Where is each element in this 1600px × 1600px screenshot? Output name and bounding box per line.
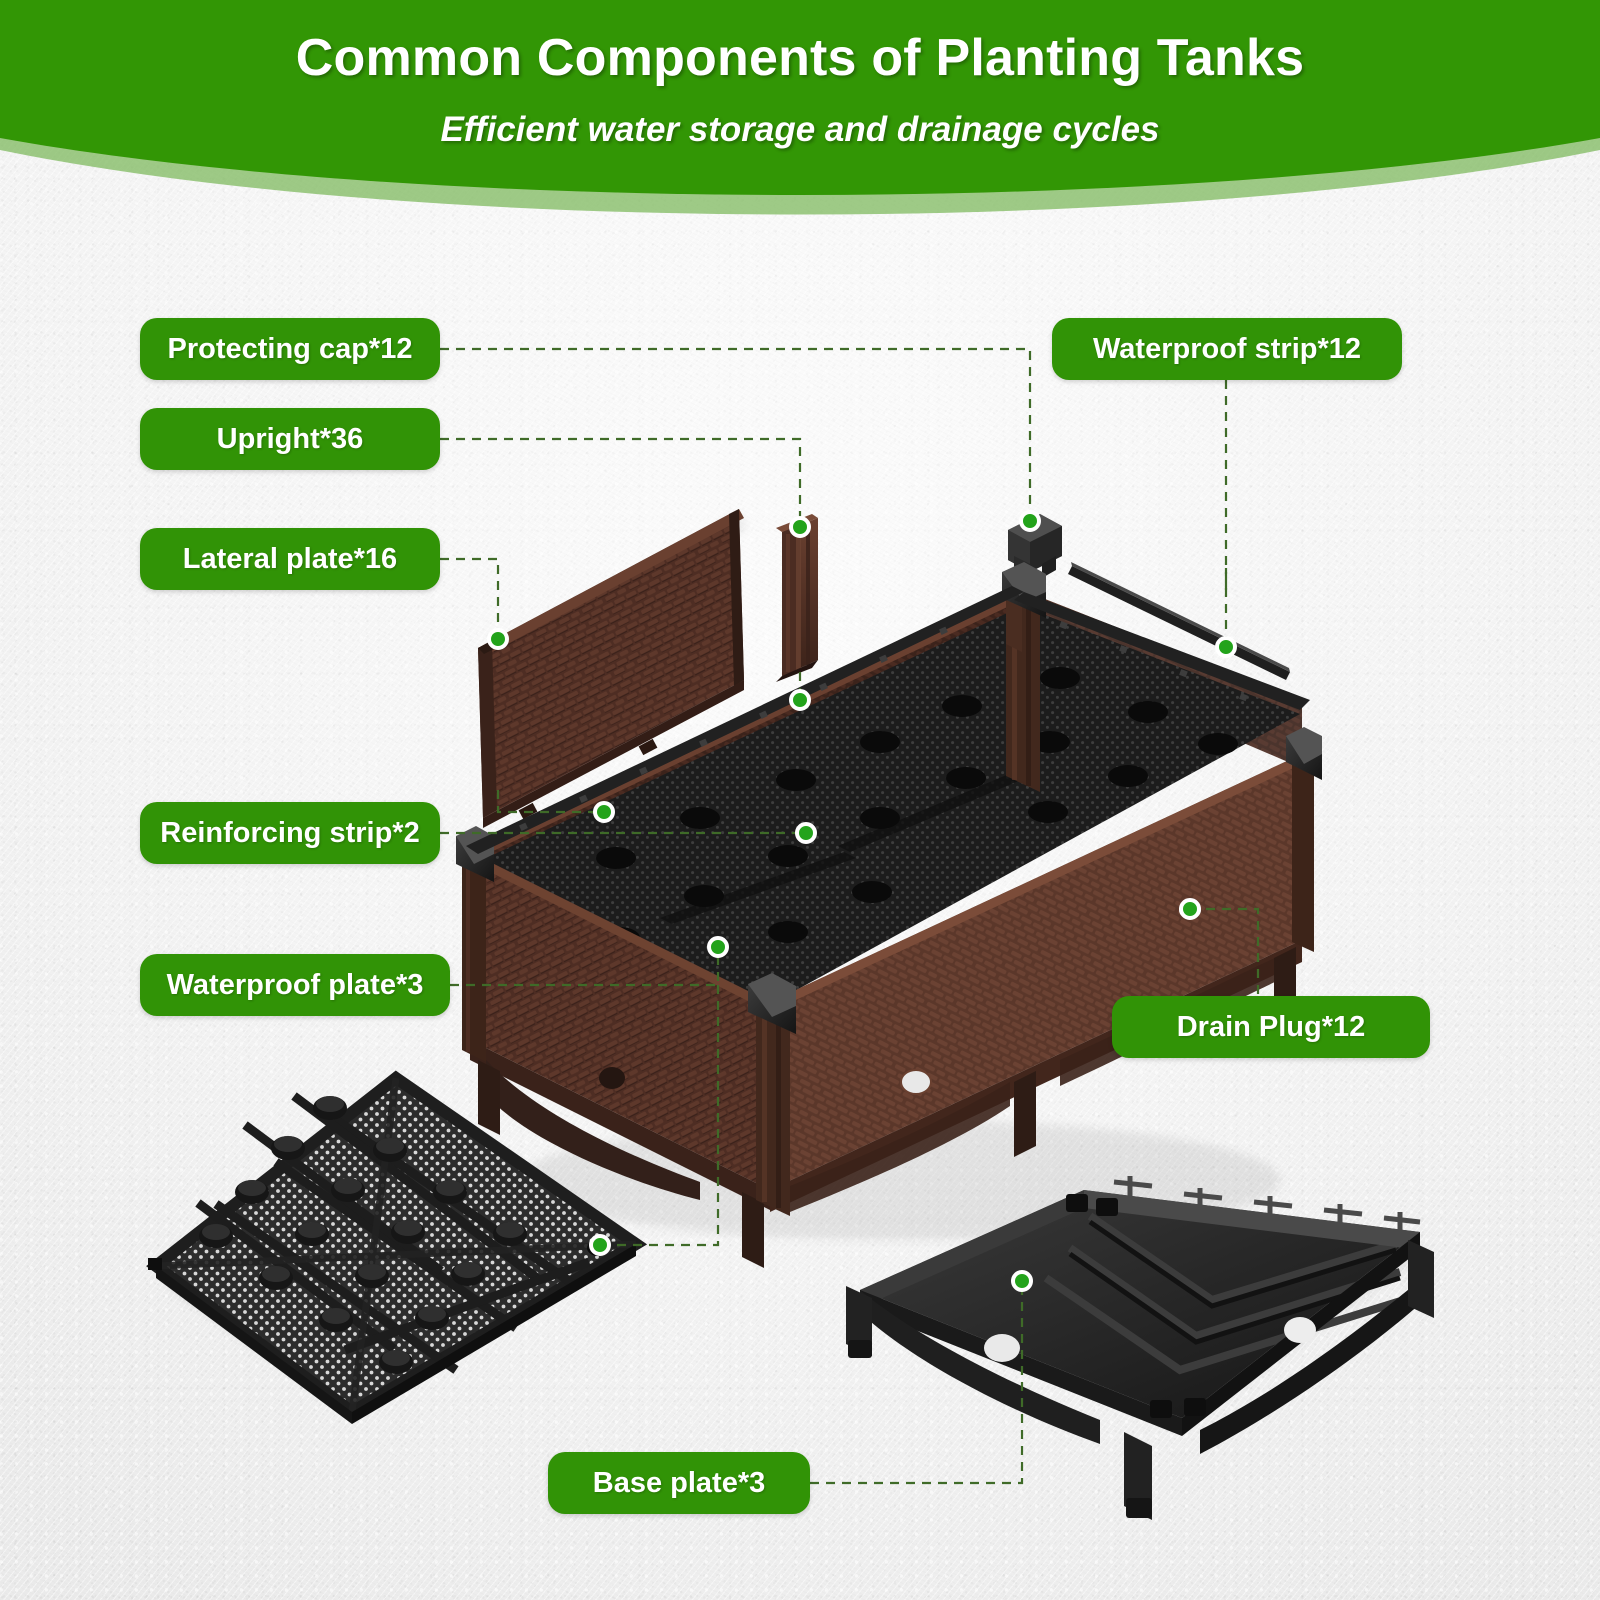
callout-label: Upright*36 [217,423,364,456]
callout-label: Lateral plate*16 [183,543,397,576]
upright-post-part [776,514,818,682]
callout-label: Protecting cap*12 [168,333,413,366]
callout-label: Reinforcing strip*2 [160,817,419,850]
callout-waterproof-strip[interactable]: Waterproof strip*12 [1052,318,1402,380]
header-banner: Common Components of Planting Tanks Effi… [0,0,1600,230]
callout-label: Waterproof plate*3 [167,969,424,1002]
callout-label: Waterproof strip*12 [1093,333,1361,366]
callout-label: Base plate*3 [593,1467,766,1500]
callout-lateral-plate[interactable]: Lateral plate*16 [140,528,440,590]
product-illustration [0,0,1600,1600]
callout-protecting-cap[interactable]: Protecting cap*12 [140,318,440,380]
callout-base-plate[interactable]: Base plate*3 [548,1452,810,1514]
page-title: Common Components of Planting Tanks [0,28,1600,88]
callout-upright[interactable]: Upright*36 [140,408,440,470]
callout-label: Drain Plug*12 [1177,1011,1366,1044]
callout-waterproof-plate[interactable]: Waterproof plate*3 [140,954,450,1016]
page-subtitle: Efficient water storage and drainage cyc… [0,110,1600,150]
callout-reinforcing-strip[interactable]: Reinforcing strip*2 [140,802,440,864]
callout-drain-plug[interactable]: Drain Plug*12 [1112,996,1430,1058]
